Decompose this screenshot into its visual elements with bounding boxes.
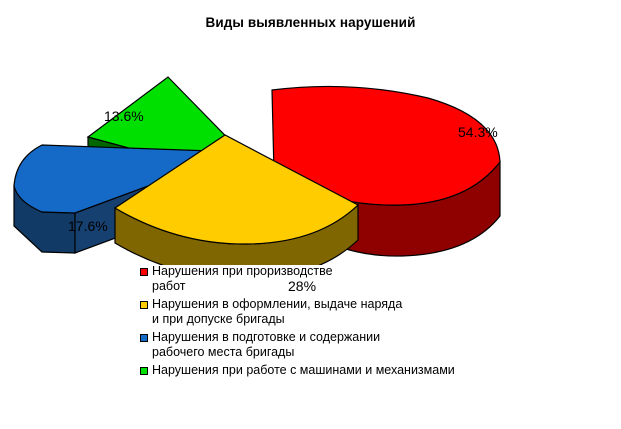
data-label-blue: 17.6% (68, 218, 108, 234)
legend-label-0: Нарушения при проризводстве работ (152, 264, 333, 294)
legend-item-1[interactable]: Нарушения в оформлении, выдаче наряда и … (140, 297, 570, 327)
legend-label-2: Нарушения в подготовке и содержании рабо… (152, 330, 380, 360)
data-label-red: 54.3% (458, 124, 498, 140)
legend-swatch-green-icon (140, 367, 148, 375)
legend-swatch-blue-icon (140, 334, 148, 342)
pie-plot-area: 54.3% 28% 17.6% 13.6% (0, 40, 621, 265)
legend-label-1: Нарушения в оформлении, выдаче наряда и … (152, 297, 402, 327)
legend-label-3: Нарушения при работе с машинами и механи… (152, 363, 455, 378)
pie-chart-figure: Виды выявленных нарушений (0, 0, 621, 429)
legend-item-3[interactable]: Нарушения при работе с машинами и механи… (140, 363, 570, 378)
data-label-green: 13.6% (104, 108, 144, 124)
legend-swatch-red-icon (140, 268, 148, 276)
chart-legend: Нарушения при проризводстве работ Наруше… (140, 264, 570, 381)
legend-item-0[interactable]: Нарушения при проризводстве работ (140, 264, 570, 294)
legend-item-2[interactable]: Нарушения в подготовке и содержании рабо… (140, 330, 570, 360)
chart-title: Виды выявленных нарушений (0, 15, 621, 30)
legend-swatch-yellow-icon (140, 301, 148, 309)
